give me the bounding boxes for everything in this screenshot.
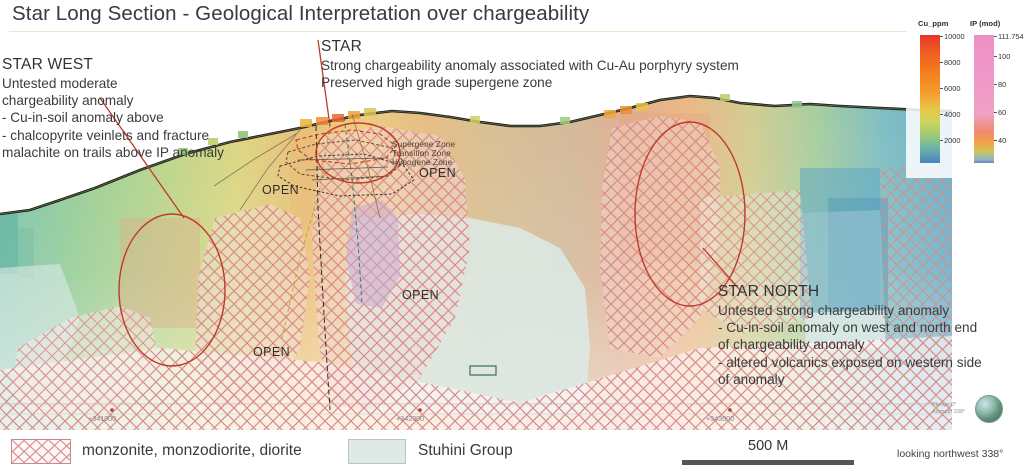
annotation-star-north-line-1: - Cu-in-soil anomaly on west and north e… [718,319,982,336]
annotation-star-west-heading: STAR WEST [2,56,224,74]
annotation-star-west-line-1: chargeability anomaly [2,92,224,109]
cu-tick-4: 2000 [944,136,960,145]
annotation-star-north: STAR NORTH Untested strong chargeability… [718,283,982,388]
ip-tick-3: 60 [998,108,1006,117]
ip-tick-0: 111.754 [998,32,1024,41]
annotation-star-north-line-4: of anomaly [718,371,982,388]
annotation-star-west-line-2: - Cu-in-soil anomaly above [2,109,224,126]
coordinate-label-0: +341000 [88,414,116,423]
open-label-0: OPEN [262,183,299,197]
cu-colorbar-title: Cu_ppm [918,19,948,28]
annotation-star-west-line-4: malachite on trails above IP anomaly [2,144,224,161]
section-figure: Star Long Section - Geological Interpret… [0,0,1024,472]
stuhini-swatch [348,439,406,464]
open-label-1: OPEN [419,166,456,180]
cu-tick-0: 10000 [944,32,965,41]
coordinate-label-1: +342000 [396,414,424,423]
ip-tick-2: 80 [998,80,1006,89]
monzonite-legend-label: monzonite, monzodiorite, diorite [82,442,302,460]
globe-azimuth-label: Azimuth 338° [932,409,965,416]
scale-bar [682,460,854,465]
cu-tick-1: 8000 [944,58,960,67]
cu-tick-2: 6000 [944,84,960,93]
bottom-legend-bar: monzonite, monzodiorite, diorite Stuhini… [0,430,1024,472]
annotation-star-west: STAR WEST Untested moderate chargeabilit… [2,56,224,161]
annotation-star-line-1: Preserved high grade supergene zone [321,74,739,91]
annotation-star-north-line-3: - altered volcanics exposed on western s… [718,354,982,371]
colorbar-legend: Cu_ppm 100008000600040002000 IP (mod) 11… [906,13,1020,178]
annotation-star-north-heading: STAR NORTH [718,283,982,301]
orientation-globe-icon [975,395,1003,423]
coordinate-label-2: +343000 [706,414,734,423]
ip-tick-1: 100 [998,52,1010,61]
annotation-star-west-line-3: - chalcopyrite veinlets and fracture [2,127,224,144]
scale-bar-label: 500 M [748,438,788,454]
view-direction-label: looking northwest 338° [897,448,1003,460]
annotation-star-line-0: Strong chargeability anomaly associated … [321,57,739,74]
monzonite-swatch [11,439,71,464]
cu-colorbar [920,35,940,163]
globe-plunge-label: Plunge 0° [932,402,956,409]
annotation-star-north-line-0: Untested strong chargeability anomaly [718,302,982,319]
ip-tick-4: 40 [998,136,1006,145]
coordinate-tick-1 [110,408,114,412]
open-label-3: OPEN [402,288,439,302]
ip-colorbar [974,35,994,163]
cu-tick-3: 4000 [944,110,960,119]
stuhini-legend-label: Stuhini Group [418,442,513,460]
ip-colorbar-title: IP (mod) [970,19,1000,28]
annotation-star: STAR Strong chargeability anomaly associ… [321,38,739,91]
annotation-star-west-line-0: Untested moderate [2,75,224,92]
open-label-2: OPEN [253,345,290,359]
annotation-star-heading: STAR [321,38,739,56]
coordinate-tick-2 [418,408,422,412]
coordinate-tick-3 [728,408,732,412]
annotation-star-north-line-2: of chargeability anomaly [718,336,982,353]
